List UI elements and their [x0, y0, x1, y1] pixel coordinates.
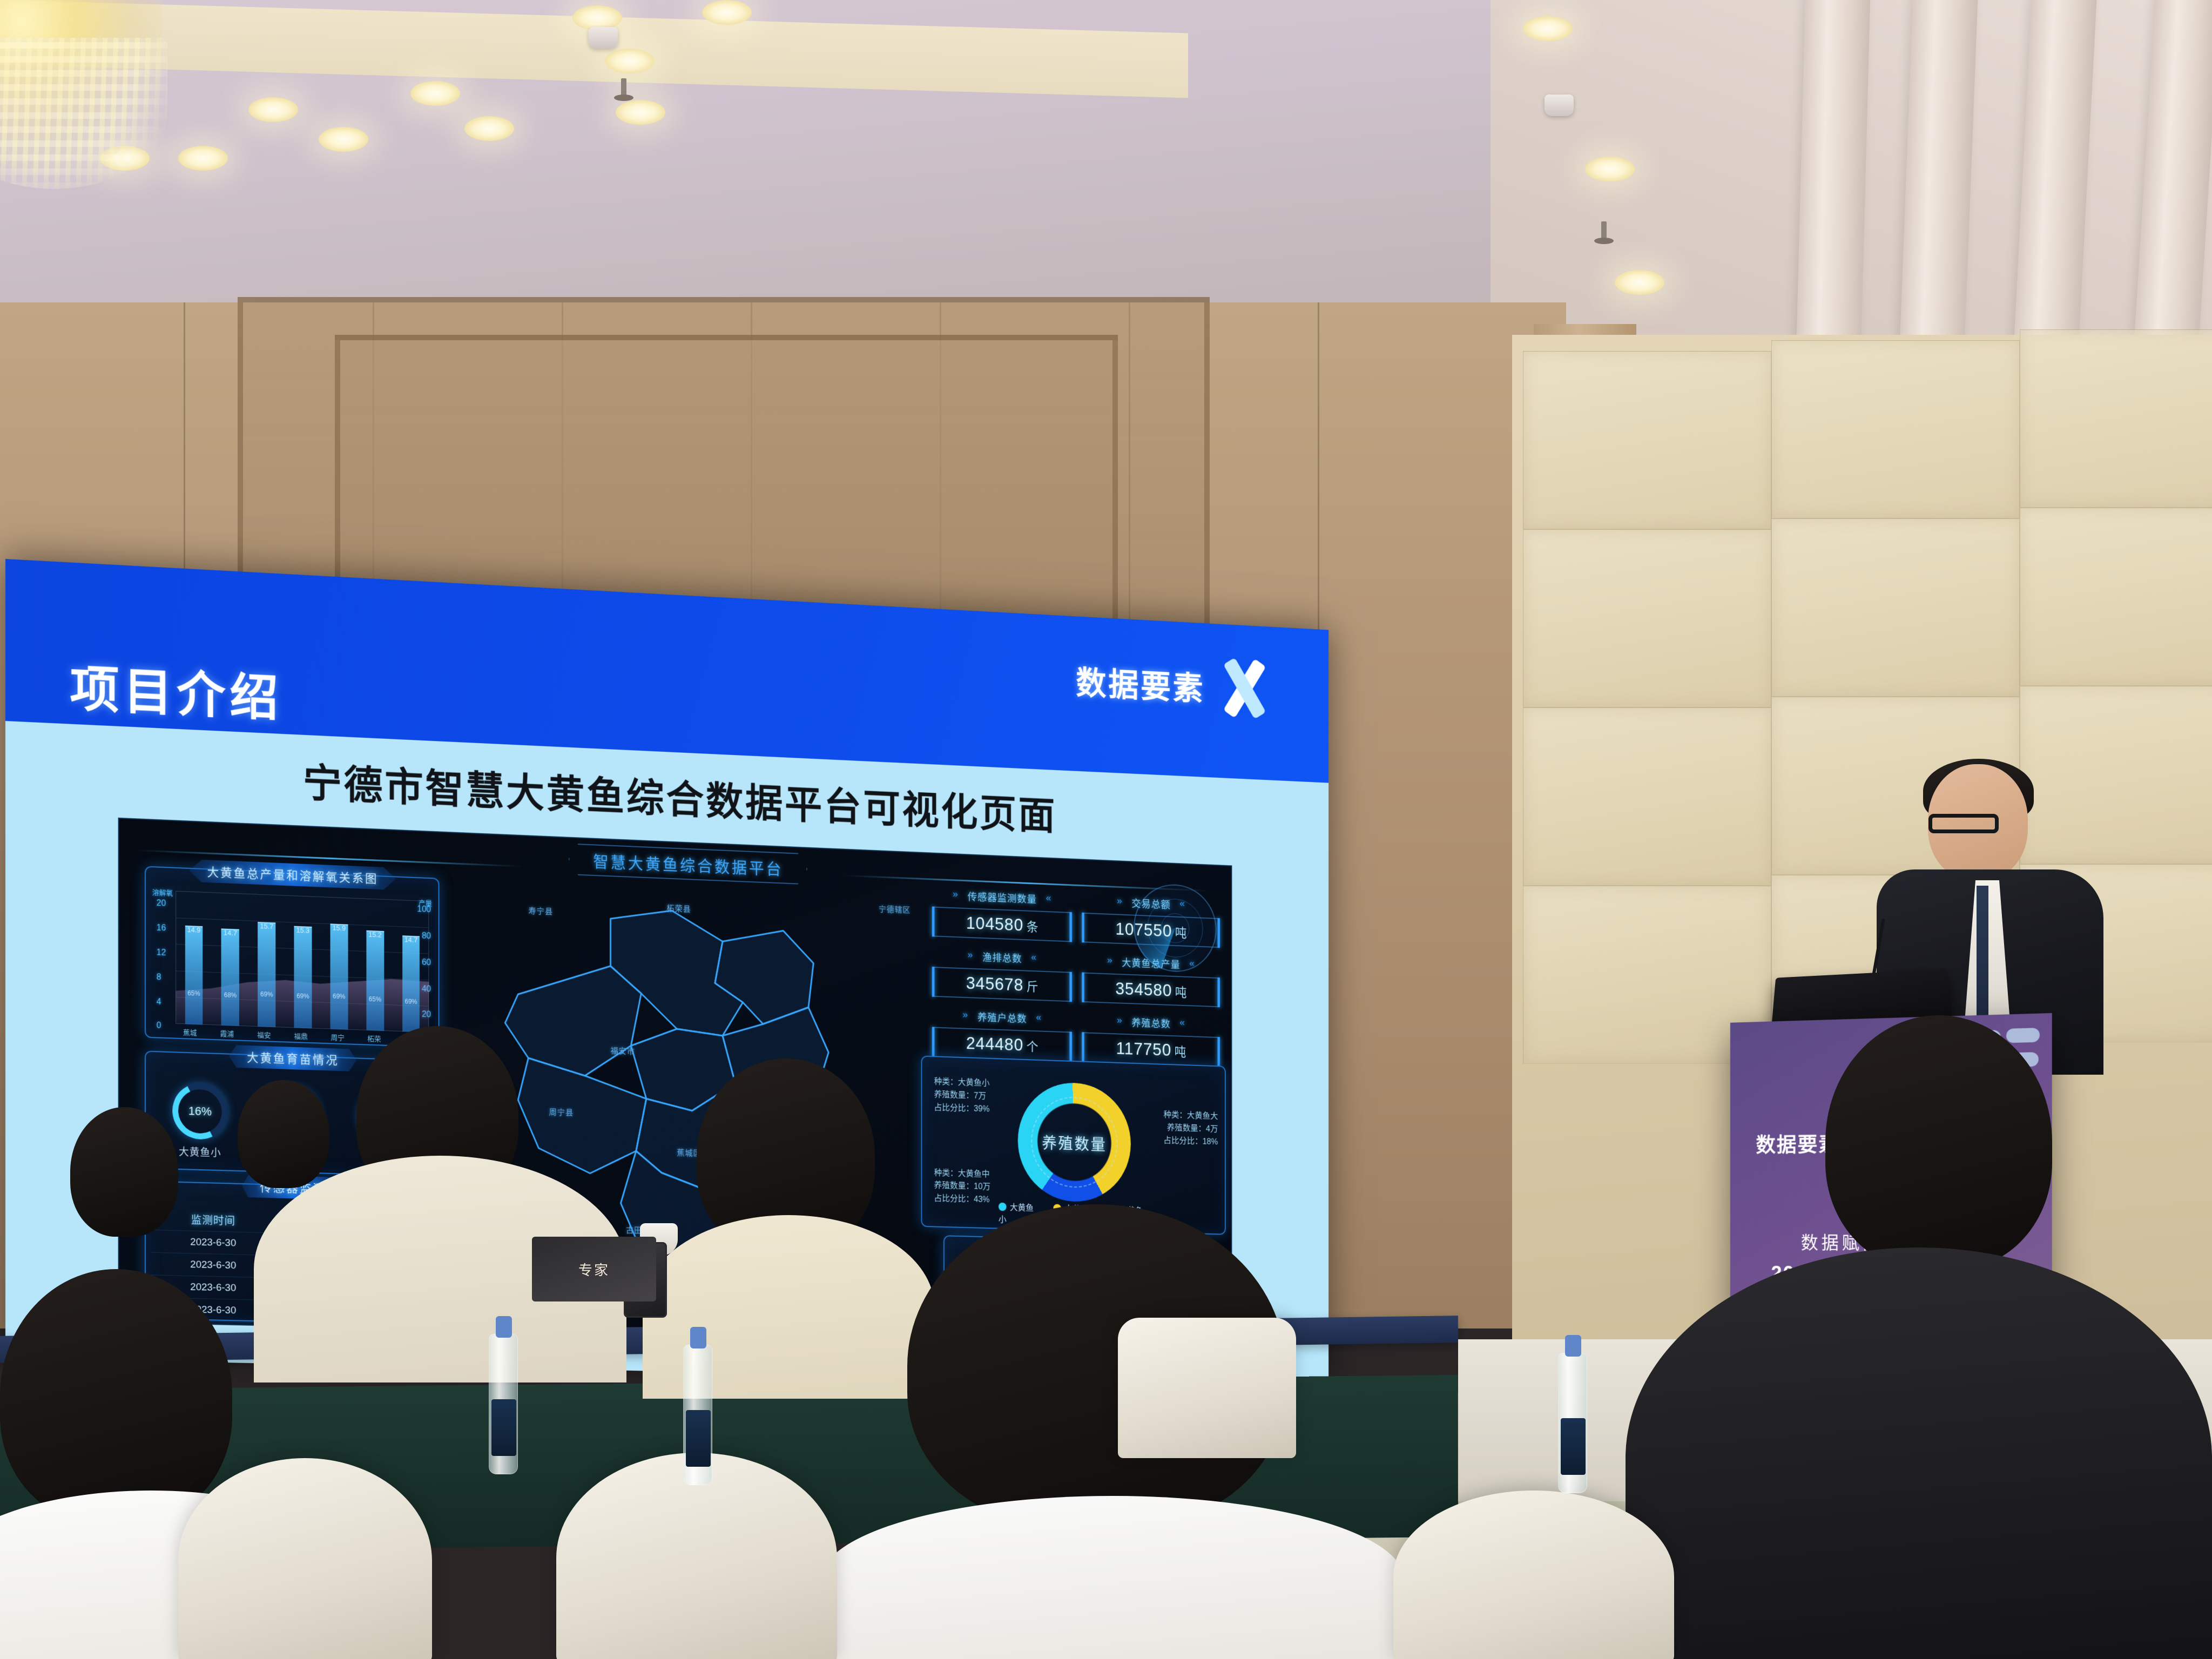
- audience-head: [0, 1269, 232, 1523]
- x-tick: 福安: [257, 1029, 271, 1040]
- gauge-panel-title: 大黄鱼育苗情况: [229, 1045, 357, 1071]
- bar-secondary-label: 69%: [404, 997, 417, 1006]
- downlight-icon: [702, 0, 752, 25]
- kpi-unit: 吨: [1175, 1045, 1186, 1059]
- chair: [1393, 1491, 1674, 1659]
- smoke-detector-icon: [1545, 95, 1574, 116]
- slide-brand: 数据要素: [1076, 651, 1271, 718]
- x-tick: 福鼎: [294, 1030, 307, 1041]
- slide-section-title: 项目介绍: [70, 649, 282, 730]
- kpi-label: 养殖户总数: [977, 1010, 1027, 1026]
- smoke-detector-icon: [589, 27, 618, 49]
- kpi-card[interactable]: 养殖户总数 244480个: [934, 1008, 1071, 1062]
- downlight-icon: [1615, 270, 1664, 295]
- kpi-grid: 传感器监测数量 104580条 交易总额 107550吨 渔排总数 345678…: [934, 888, 1219, 1067]
- water-bottle[interactable]: [1558, 1353, 1587, 1493]
- bar-chart-ylabel: 溶解氧: [152, 887, 173, 898]
- bar-series: 14.965% 14.768% 15.769% 15.369% 15.969% …: [176, 891, 429, 1033]
- bar-secondary-label: 65%: [187, 989, 200, 997]
- donut-center-label: 养殖数量: [1042, 1130, 1107, 1155]
- downlight-icon: [178, 146, 228, 171]
- donut-note-right: 种类：大黄鱼大 养殖数量：4万 占比分比：18%: [1163, 1109, 1218, 1149]
- bar-value-label: 14.7: [224, 928, 237, 937]
- downlight-icon: [464, 116, 514, 141]
- kpi-value: 107550: [1115, 919, 1172, 940]
- gauge-label: 大黄鱼小: [172, 1144, 227, 1160]
- chair: [1118, 1318, 1296, 1458]
- kpi-card[interactable]: 渔排总数 345678斤: [934, 948, 1071, 1002]
- x-tick: 霞浦: [220, 1028, 234, 1039]
- donut-note-bottom: 种类：大黄鱼中 养殖数量：10万 占比分比：43%: [934, 1167, 991, 1207]
- downlight-icon: [1523, 16, 1573, 41]
- kpi-card[interactable]: 养殖总数 117750吨: [1083, 1014, 1218, 1067]
- downlight-icon: [410, 81, 460, 106]
- bar-chart-panel: 大黄鱼总产量和溶解氧关系图 溶解氧 产量 20 16 12 8 4 0 100 …: [145, 866, 440, 1048]
- x-logo-icon: [1217, 659, 1271, 718]
- kpi-value: 104580: [966, 913, 1023, 935]
- bar-value-label: 15.7: [260, 922, 273, 930]
- y-tick: 0: [157, 1021, 161, 1031]
- y-tick: 4: [157, 997, 161, 1007]
- y-tick: 20: [157, 899, 166, 909]
- x-tick: 柘荣: [367, 1033, 381, 1044]
- y-tick: 12: [157, 948, 166, 958]
- kpi-unit: 吨: [1175, 926, 1187, 941]
- kpi-card[interactable]: 大黄鱼总产量 354580吨: [1083, 954, 1218, 1007]
- gauge-item[interactable]: 16% 大黄鱼小: [172, 1082, 227, 1159]
- kpi-value: 354580: [1115, 979, 1172, 1000]
- kpi-unit: 吨: [1175, 986, 1187, 1000]
- bar-chart-title: 大黄鱼总产量和溶解氧关系图: [189, 859, 396, 890]
- water-bottle[interactable]: [683, 1345, 712, 1485]
- audience-shoulders: [821, 1496, 1404, 1659]
- name-card-sign: 专家: [532, 1237, 656, 1301]
- conference-room-scene: 数据要素 项目介绍 宁德市智慧大黄鱼综合数据平台可视化页面 智慧大黄鱼综合数据平…: [0, 0, 2212, 1659]
- bar-value-label: 14.9: [187, 926, 201, 934]
- gauge-value: 16%: [178, 1089, 222, 1134]
- slide-brand-text: 数据要素: [1076, 657, 1205, 710]
- downlight-icon: [319, 127, 368, 152]
- sprinkler-icon: [621, 78, 626, 97]
- kpi-value: 244480: [966, 1033, 1023, 1054]
- kpi-card[interactable]: 传感器监测数量 104580条: [934, 888, 1071, 942]
- kpi-value: 345678: [966, 973, 1023, 994]
- audience-head: [70, 1107, 178, 1237]
- kpi-unit: 条: [1027, 920, 1038, 935]
- downlight-icon: [616, 100, 665, 125]
- kpi-label: 大黄鱼总产量: [1122, 955, 1180, 972]
- bar-value-label: 15.9: [333, 923, 346, 932]
- dashboard-title: 智慧大黄鱼综合数据平台: [569, 843, 807, 885]
- bar-secondary-label: 65%: [369, 995, 381, 1003]
- y-tick: 8: [157, 973, 161, 982]
- kpi-value: 117750: [1116, 1038, 1171, 1060]
- downlight-icon: [605, 49, 655, 73]
- kpi-label: 交易总额: [1131, 896, 1170, 912]
- bar-secondary-label: 69%: [333, 993, 345, 1001]
- kpi-unit: 个: [1027, 1040, 1038, 1055]
- audience-shoulders: [1626, 1247, 2212, 1659]
- downlight-icon: [248, 97, 298, 122]
- glasses-icon: [1928, 814, 1999, 833]
- bar-value-label: 14.7: [404, 935, 417, 944]
- x-tick: 蕉城: [183, 1027, 197, 1037]
- kpi-label: 传感器监测数量: [968, 889, 1037, 906]
- bar-secondary-label: 68%: [224, 991, 237, 999]
- bar-secondary-label: 69%: [296, 992, 309, 1000]
- lanyard: [1977, 886, 1988, 1021]
- y-tick: 16: [157, 923, 166, 934]
- chair: [178, 1458, 432, 1659]
- sprinkler-icon: [1601, 221, 1607, 240]
- bar-secondary-label: 69%: [260, 990, 273, 999]
- map-region-label: 宁德辖区: [879, 903, 911, 916]
- kpi-unit: 斤: [1027, 980, 1038, 995]
- audience-head: [1825, 1015, 2052, 1269]
- downlight-icon: [1585, 157, 1635, 181]
- kpi-card[interactable]: 交易总额 107550吨: [1083, 894, 1218, 948]
- water-bottle[interactable]: [489, 1334, 518, 1474]
- table-sign-text: 专家: [578, 1259, 610, 1279]
- kpi-label: 养殖总数: [1131, 1015, 1170, 1030]
- audience-head: [238, 1080, 329, 1188]
- kpi-label: 渔排总数: [982, 950, 1022, 966]
- donut-note-left: 种类：大黄鱼小 养殖数量：7万 占比分比：39%: [934, 1076, 990, 1116]
- bar-value-label: 15.3: [296, 926, 310, 935]
- x-tick: 周宁: [331, 1032, 345, 1043]
- bar-chart: 14.965% 14.768% 15.769% 15.369% 15.969% …: [176, 891, 429, 1033]
- bar-value-label: 15.2: [368, 930, 381, 939]
